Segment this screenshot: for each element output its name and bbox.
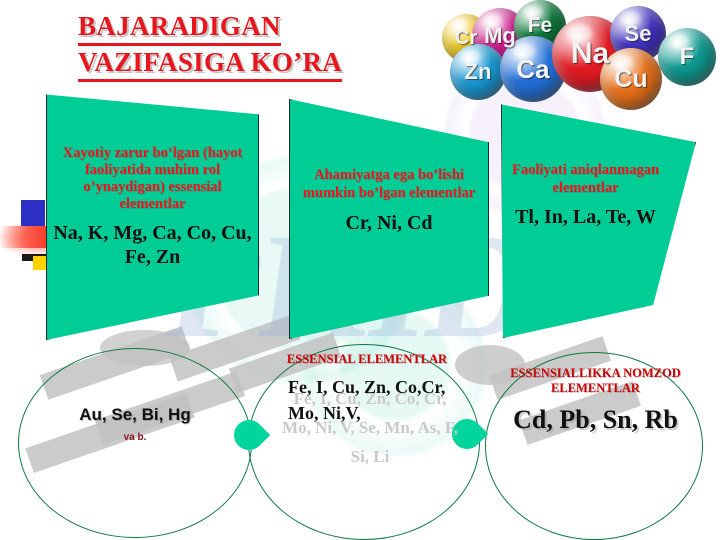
page-title: BAJARADIGAN VAZIFASIGA KO’RA bbox=[78, 10, 342, 82]
ellipse-right-heading: ESSENSIALLIKKA NOMZOD ELEMENTLAR bbox=[498, 366, 693, 395]
ellipse-left-note: va b. bbox=[30, 432, 240, 443]
element-sphere-label: Ca bbox=[516, 54, 549, 85]
panel-possibly-important-elements: Ahamiyatga ega bo’lishi mumkin bo’lgan e… bbox=[289, 99, 489, 339]
decor-blue-square bbox=[21, 200, 45, 226]
element-sphere-label: F bbox=[680, 43, 695, 71]
title-line-1: BAJARADIGAN bbox=[78, 10, 281, 46]
panel-2-heading: Ahamiyatga ega bo’lishi mumkin bo’lgan e… bbox=[300, 166, 478, 202]
panel-essential-elements: Xayotiy zarur bo‘lgan (hayot faoliyatida… bbox=[46, 92, 259, 340]
panel-1-elements: Na, K, Mg, Ca, Co, Cu, Fe, Zn bbox=[53, 221, 252, 269]
element-sphere-label: Fe bbox=[528, 14, 553, 38]
ellipse-right-content: ESSENSIALLIKKA NOMZOD ELEMENTLAR Cd, Pb,… bbox=[498, 366, 693, 436]
panel-3-heading: Faoliyati aniqlanmagan elementlar bbox=[510, 161, 661, 197]
ellipse-left-content: Au, Se, Bi, Hg va b. bbox=[30, 405, 240, 443]
element-sphere-label: Cr bbox=[455, 27, 477, 50]
slide-canvas: PRID BAJARADIGAN VAZIFASIGA KO’RA CrMgFe… bbox=[0, 0, 720, 540]
panel-unknown-function-elements: Faoliyati aniqlanmagan elementlar Tl, In… bbox=[501, 102, 696, 338]
panel-2-elements: Cr, Ni, Cd bbox=[300, 211, 478, 235]
element-sphere-label: Se bbox=[625, 21, 652, 47]
element-sphere-label: Mg bbox=[484, 23, 516, 49]
decor-red-band bbox=[0, 226, 48, 248]
element-sphere-label: Zn bbox=[465, 59, 492, 85]
ellipse-middle-heading: ESSENSIAL ELEMENTLAR bbox=[282, 352, 452, 366]
element-spheres-image: CrMgFeZnCaNaSeFCu bbox=[420, 0, 720, 108]
ellipse-middle-elements: Fe, I, Cu, Zn, Co,Cr, Mo, Ni,V, bbox=[282, 374, 452, 426]
ellipse-middle-content: ESSENSIAL ELEMENTLAR Fe, I, Cu, Zn, Co, … bbox=[282, 352, 452, 426]
element-sphere-f: F bbox=[658, 28, 716, 86]
panel-3-elements: Tl, In, La, Te, W bbox=[510, 205, 661, 229]
ellipse-left-elements: Au, Se, Bi, Hg bbox=[30, 405, 240, 425]
decor-yellow-square bbox=[33, 256, 46, 270]
title-line-2: VAZIFASIGA KO’RA bbox=[78, 46, 342, 82]
element-sphere-zn: Zn bbox=[450, 44, 506, 100]
element-sphere-cu: Cu bbox=[600, 48, 662, 110]
ellipse-right-elements: Cd, Pb, Sn, Rb bbox=[498, 404, 693, 436]
element-sphere-label: Na bbox=[571, 37, 609, 71]
panel-1-heading: Xayotiy zarur bo‘lgan (hayot faoliyatida… bbox=[53, 145, 252, 213]
ellipse-left bbox=[18, 348, 252, 538]
element-sphere-label: Cu bbox=[614, 65, 647, 94]
